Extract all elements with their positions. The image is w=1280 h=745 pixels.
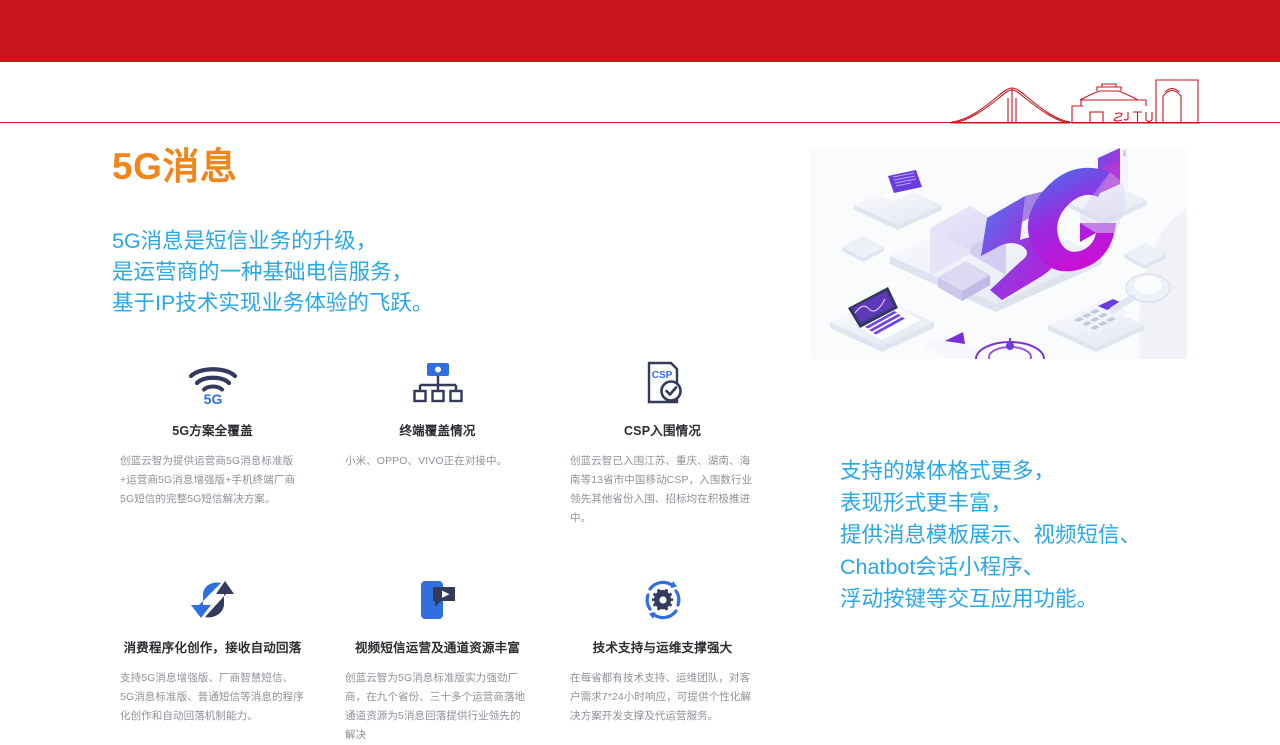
features-grid: 5G 5G方案全覆盖 创蓝云智为提供运营商5G消息标准版+运营商5G消息增强版+… bbox=[100, 358, 775, 745]
gear-refresh-icon bbox=[640, 575, 686, 625]
phone-video-icon bbox=[415, 575, 461, 625]
feature-title: 终端覆盖情况 bbox=[399, 420, 475, 439]
svg-text:5G: 5G bbox=[203, 391, 222, 406]
hero-subtitle: 5G消息是短信业务的升级， 是运营商的一种基础电信服务， 基于IP技术实现业务体… bbox=[112, 226, 433, 319]
feature-title: 视频短信运营及通道资源丰富 bbox=[355, 637, 520, 656]
feature-body: 在每省都有技术支持、运维团队，对客户需求7*24小时响应，可提供个性化解决方案开… bbox=[570, 669, 755, 726]
feature-card-5g-coverage[interactable]: 5G 5G方案全覆盖 创蓝云智为提供运营商5G消息标准版+运营商5G消息增强版+… bbox=[100, 358, 325, 528]
sync-arrows-icon bbox=[188, 575, 238, 625]
right-content-pane: 支持的媒体格式更多， 表现形式更丰富， 提供消息模板展示、视频短信、 Chatb… bbox=[790, 122, 1280, 720]
feature-body: 支持5G消息增强版、厂商智慧短信、5G消息标准版、普通短信等消息的程序化创作和自… bbox=[120, 669, 305, 726]
feature-card-terminal-coverage[interactable]: 终端覆盖情况 小米、OPPO、VIVO正在对接中。 bbox=[325, 358, 550, 528]
network-topology-icon bbox=[413, 358, 463, 408]
features-row-top: 5G 5G方案全覆盖 创蓝云智为提供运营商5G消息标准版+运营商5G消息增强版+… bbox=[100, 358, 775, 528]
csp-document-check-icon: CSP bbox=[641, 358, 685, 408]
svg-text:CSP: CSP bbox=[651, 370, 672, 381]
feature-title: 5G方案全覆盖 bbox=[172, 420, 253, 439]
right-panel-text: 支持的媒体格式更多， 表现形式更丰富， 提供消息模板展示、视频短信、 Chatb… bbox=[840, 455, 1141, 615]
top-red-banner bbox=[0, 0, 1280, 62]
hero-5g-illustration bbox=[810, 148, 1187, 359]
feature-body: 创蓝云智已入围江苏、重庆、湖南、海南等13省市中国移动CSP，入围数行业领先其他… bbox=[570, 452, 755, 528]
shanghai-skyline-icon bbox=[950, 78, 1200, 124]
feature-title: CSP入围情况 bbox=[624, 420, 701, 439]
feature-body: 创蓝云智为提供运营商5G消息标准版+运营商5G消息增强版+手机终端厂商5G短信的… bbox=[120, 452, 305, 509]
slide-root: 5G消息 5G消息是短信业务的升级， 是运营商的一种基础电信服务， 基于IP技术… bbox=[0, 0, 1280, 720]
wifi-5g-icon: 5G bbox=[186, 358, 240, 408]
feature-title: 技术支持与运维支撑强大 bbox=[593, 637, 733, 656]
feature-body: 创蓝云智为5G消息标准版实力强劲厂商，在九个省份、三十多个运营商落地通道资源为5… bbox=[345, 669, 530, 745]
feature-card-csp-status[interactable]: CSP CSP入围情况 创蓝云智已入围江苏、重庆、湖南、海南等13省市中国移动C… bbox=[550, 358, 775, 528]
page-title: 5G消息 bbox=[112, 147, 237, 188]
feature-body: 小米、OPPO、VIVO正在对接中。 bbox=[345, 452, 530, 471]
left-content-pane: 5G消息 5G消息是短信业务的升级， 是运营商的一种基础电信服务， 基于IP技术… bbox=[0, 122, 790, 720]
feature-title: 消费程序化创作，接收自动回落 bbox=[124, 637, 302, 656]
